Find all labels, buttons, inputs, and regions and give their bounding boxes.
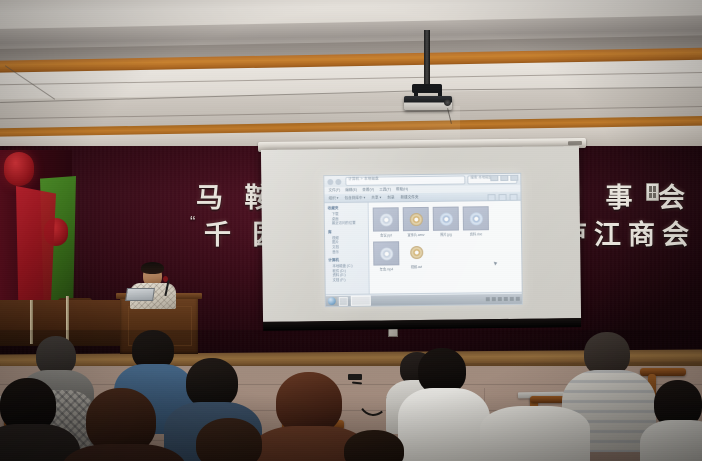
nav-item-drive-f[interactable]: 文档 (F:) [329,278,369,283]
menu-view[interactable]: 查看(V) [362,188,374,193]
toolbar-include-library[interactable]: 包含到库中 ▾ [345,195,366,200]
toolbar-burn[interactable]: 刻录 [387,195,394,200]
start-button-icon[interactable] [328,297,336,305]
file-thumbnail [433,207,459,231]
back-arrow-icon[interactable] [327,179,333,185]
file-name: 宣传片.wmv [403,232,429,237]
file-item[interactable]: 视频.avi [403,241,429,271]
nav-item-music[interactable]: 音乐 [328,249,368,254]
wall-light-switch[interactable] [646,183,659,201]
menu-tools[interactable]: 工具(T) [379,187,391,192]
file-grid: 会议.ppt 宣传片.wmv 照片.jpg 资料.doc [369,201,522,277]
search-placeholder-text: 搜索 本地磁盘 [470,175,492,180]
projector-lens-icon [444,99,451,106]
windows-taskbar[interactable] [326,294,522,306]
ceiling [0,0,702,150]
menu-file[interactable]: 文件(F) [328,188,340,193]
explorer-address-bar[interactable]: 计算机 > 本地磁盘 [345,175,465,185]
maximize-icon[interactable] [500,175,508,181]
explorer-file-list[interactable]: 会议.ppt 宣传片.wmv 照片.jpg 资料.doc [369,201,522,294]
disc-icon [380,247,393,260]
conference-hall-photo: 马 鞍 “ 千 园 理 事 会 庐江商会 计算机 > 本地磁盘 搜索 [0,0,702,461]
tray-icon-4[interactable] [504,297,508,301]
disc-icon [469,212,482,225]
file-thumbnail [373,207,399,231]
disc-icon [439,212,452,225]
file-item[interactable]: 年会.mp4 [373,241,399,271]
banner-quote-mark: “ [190,214,195,232]
floor-connector [348,374,362,380]
tray-icon-5[interactable] [510,297,514,301]
file-name: 视频.avi [403,264,429,269]
file-thumbnail [373,241,399,265]
red-lantern [4,152,34,186]
tray-icon-1[interactable] [486,297,490,301]
nav-group-computer-label: 计算机 [328,258,368,263]
disc-icon [410,245,423,258]
person-torso [480,406,590,461]
file-item[interactable]: 资料.doc [463,206,489,236]
red-flag [16,186,56,314]
explorer-nav-buttons[interactable] [327,178,341,184]
flag-pole-left [30,300,33,344]
person-torso [398,388,490,461]
disc-icon [409,212,422,225]
minimize-icon[interactable] [490,175,498,181]
projected-explorer-window: 计算机 > 本地磁盘 搜索 本地磁盘 文件(F) 编辑(E) 查看(V) 工具(… [323,173,523,307]
audience-chair-back-far-right[interactable] [640,368,686,376]
person-head [196,418,262,461]
file-name: 照片.jpg [433,232,459,237]
file-name: 资料.doc [463,231,489,236]
system-tray[interactable] [486,297,522,301]
file-item[interactable]: 宣传片.wmv [403,207,429,237]
nav-group-libraries: 库 视频 图片 文档 音乐 [328,229,368,254]
nav-group-favorites-label: 收藏夹 [328,206,368,211]
menu-help[interactable]: 帮助(H) [396,187,408,192]
projection-screen: 计算机 > 本地磁盘 搜索 本地磁盘 文件(F) 编辑(E) 查看(V) 工具(… [261,146,581,322]
person-torso [640,420,702,461]
projector-mount-pole [424,30,430,88]
nav-item-recent[interactable]: 最近访问的位置 [328,221,368,226]
file-thumbnail [404,241,428,263]
explorer-navigation-pane[interactable]: 收藏夹 下载 桌面 最近访问的位置 库 视频 图片 文档 音乐 计算机 本地磁盘… [325,203,370,295]
address-text: 计算机 > 本地磁盘 [348,177,379,182]
file-item[interactable]: 照片.jpg [433,207,459,237]
window-controls[interactable] [490,175,518,181]
file-thumbnail [403,207,429,231]
file-name: 年会.mp4 [373,266,399,271]
banner-right-line-2: 庐江商会 [560,213,696,252]
tray-icon-3[interactable] [498,297,502,301]
nav-group-favorites: 收藏夹 下载 桌面 最近访问的位置 [328,206,368,226]
person-head [344,430,404,461]
toolbar-new-folder[interactable]: 新建文件夹 [400,195,418,200]
switch-rocker-3[interactable] [649,193,652,199]
file-thumbnail [463,206,489,230]
presenter-laptop [125,288,155,301]
menu-edit[interactable]: 编辑(E) [345,188,357,193]
toolbar-share[interactable]: 共享 ▾ [371,195,381,200]
presenter-hair [141,262,164,274]
taskbar-explorer-window-button[interactable] [351,296,371,306]
nav-group-libraries-label: 库 [328,229,368,234]
toolbar-organize[interactable]: 组织 ▾ [329,196,339,201]
flag-pole-right [66,296,69,344]
person-head [276,372,342,434]
nav-group-computer: 计算机 本地磁盘 (C:) 软件 (D:) 资料 (E:) 文档 (F:) [328,258,368,283]
tray-clock-icon[interactable] [516,297,520,301]
roller-end-cap [568,141,582,145]
person-head [186,358,238,408]
taskbar-ie-icon[interactable] [339,296,348,305]
podium-microphone [163,276,168,282]
switch-rocker-2[interactable] [653,186,656,192]
file-name: 会议.ppt [373,232,399,237]
disc-icon [379,213,392,226]
tray-icon-2[interactable] [492,297,496,301]
forward-arrow-icon[interactable] [335,178,341,184]
file-item[interactable]: 会议.ppt [373,207,399,237]
switch-rocker-1[interactable] [649,186,652,192]
close-icon[interactable] [510,175,518,181]
switch-rocker-4[interactable] [653,193,656,199]
